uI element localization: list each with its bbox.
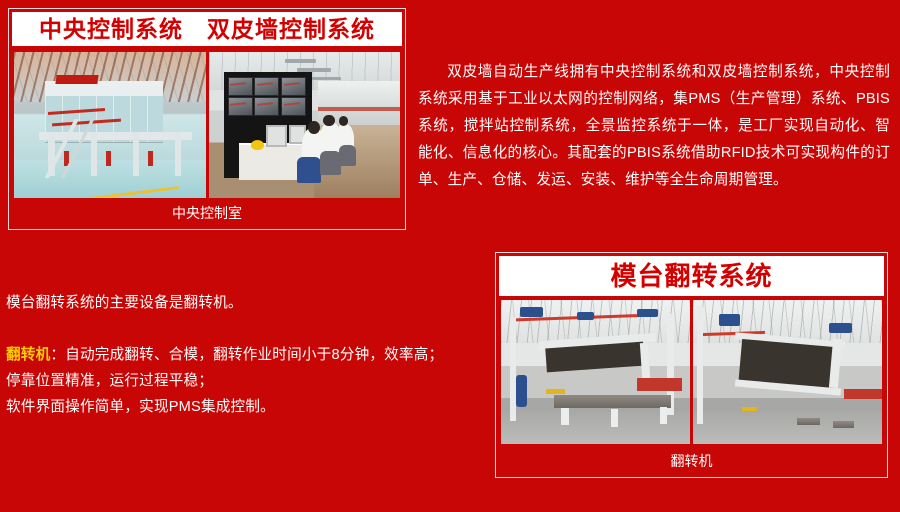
intro-paragraph: 双皮墙自动生产线拥有中央控制系统和双皮墙控制系统，中央控制系统采用基于工业以太网… <box>418 59 890 194</box>
tilting-colon: ： <box>50 347 65 363</box>
panel-control-system-header: 中央控制系统 双皮墙控制系统 <box>12 12 402 46</box>
tilting-text-block: 模台翻转系统的主要设备是翻转机。 翻转机：自动完成翻转、合模，翻转作业时间小于8… <box>6 292 476 420</box>
central-control-room-photo <box>209 52 401 198</box>
panel-tilting-system-title: 模台翻转系统 <box>610 263 772 289</box>
tilting-keyword: 翻转机 <box>6 347 50 363</box>
tilting-feature-line-3: 软件界面操作简单，实现PMS集成控制。 <box>6 394 476 420</box>
tilting-feature-line-1: 翻转机：自动完成翻转、合模，翻转作业时间小于8分钟，效率高； <box>6 342 476 368</box>
tilting-feature-line-1-text: 自动完成翻转、合模，翻转作业时间小于8分钟，效率高； <box>65 347 443 363</box>
poster-canvas: 中央控制系统 双皮墙控制系统 <box>0 0 900 512</box>
panel-tilting-system-caption: 翻转机 <box>495 448 888 474</box>
panel-tilting-system: 模台翻转系统 <box>495 252 888 478</box>
panel-control-system-title: 中央控制系统 双皮墙控制系统 <box>39 18 375 41</box>
panel-control-system: 中央控制系统 双皮墙控制系统 <box>8 8 406 230</box>
tilting-lead-sentence: 模台翻转系统的主要设备是翻转机。 <box>6 292 476 314</box>
panel-tilting-system-photo-row <box>501 300 882 444</box>
tilting-feature-list: 翻转机：自动完成翻转、合模，翻转作业时间小于8分钟，效率高； 停靠位置精准，运行… <box>6 342 476 420</box>
tilting-feature-line-2: 停靠位置精准，运行过程平稳； <box>6 368 476 394</box>
panel-control-system-photo-row <box>14 52 400 198</box>
panel-tilting-system-header: 模台翻转系统 <box>499 256 884 296</box>
panel-tilting-system-caption-text: 翻转机 <box>671 451 713 471</box>
tilting-machine-open-photo <box>501 300 690 444</box>
precast-production-line-photo <box>14 52 206 198</box>
panel-control-system-caption-text: 中央控制室 <box>172 203 242 223</box>
tilting-machine-closed-photo <box>693 300 882 444</box>
panel-control-system-caption: 中央控制室 <box>8 200 406 226</box>
